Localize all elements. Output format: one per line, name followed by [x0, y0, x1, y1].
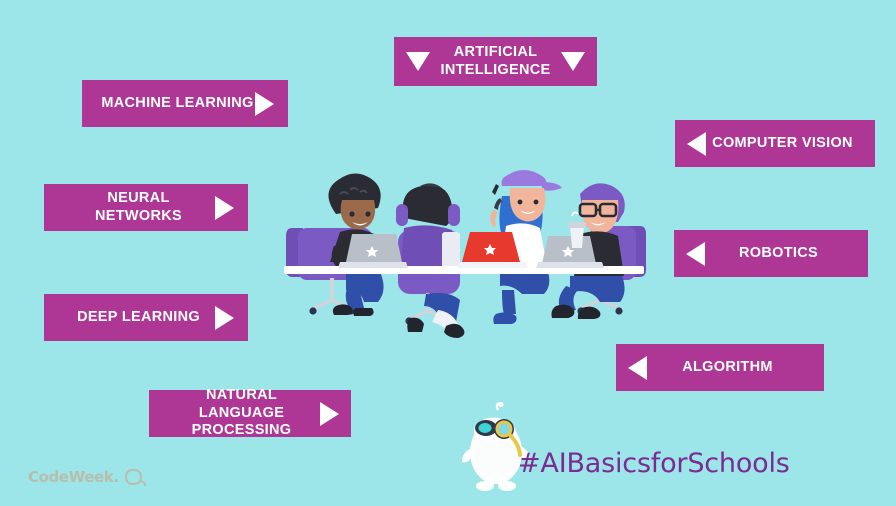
triangle-left-icon: [628, 356, 647, 380]
triangle-right-icon: [215, 196, 234, 220]
triangle-left-icon: [686, 242, 705, 266]
concept-box-computer-vision[interactable]: COMPUTER VISION: [675, 120, 875, 167]
pencil: [492, 184, 499, 195]
person-2: [396, 183, 464, 338]
hashtag-text: #AIBasicsforSchools: [518, 448, 790, 479]
concept-label-deep-learning: DEEP LEARNING: [62, 309, 215, 327]
concept-box-machine-learning[interactable]: MACHINE LEARNING: [82, 80, 288, 127]
codeweek-logo[interactable]: CodeWeek.: [28, 468, 148, 486]
triangle-left-icon: [687, 132, 706, 156]
concept-box-natural-language-processing[interactable]: NATURAL LANGUAGE PROCESSING: [149, 390, 351, 437]
concept-label-natural-language-processing: NATURAL LANGUAGE PROCESSING: [163, 387, 320, 440]
concept-label-machine-learning: MACHINE LEARNING: [100, 95, 255, 113]
concept-label-algorithm: ALGORITHM: [647, 359, 808, 377]
triangle-right-icon: [215, 306, 234, 330]
concept-label-computer-vision: COMPUTER VISION: [706, 135, 859, 153]
codeweek-mouse-icon: [122, 468, 148, 486]
triangle-down-icon: [561, 52, 585, 71]
triangle-right-icon: [320, 402, 339, 426]
concept-label-robotics: ROBOTICS: [705, 245, 852, 263]
triangle-down-icon: [406, 52, 430, 71]
triangle-right-icon: [255, 92, 274, 116]
concept-box-artificial-intelligence[interactable]: ARTIFICIAL INTELLIGENCE: [394, 37, 597, 86]
concept-label-neural-networks: NEURAL NETWORKS: [62, 190, 215, 225]
concept-box-neural-networks[interactable]: NEURAL NETWORKS: [44, 184, 248, 231]
slide-canvas: ARTIFICIAL INTELLIGENCE MACHINE LEARNING…: [0, 0, 896, 506]
concept-box-robotics[interactable]: ROBOTICS: [674, 230, 868, 277]
concept-label-artificial-intelligence: ARTIFICIAL INTELLIGENCE: [430, 44, 561, 79]
concept-box-deep-learning[interactable]: DEEP LEARNING: [44, 294, 248, 341]
students-illustration: [280, 160, 652, 352]
codeweek-logo-text: CodeWeek.: [28, 468, 119, 486]
